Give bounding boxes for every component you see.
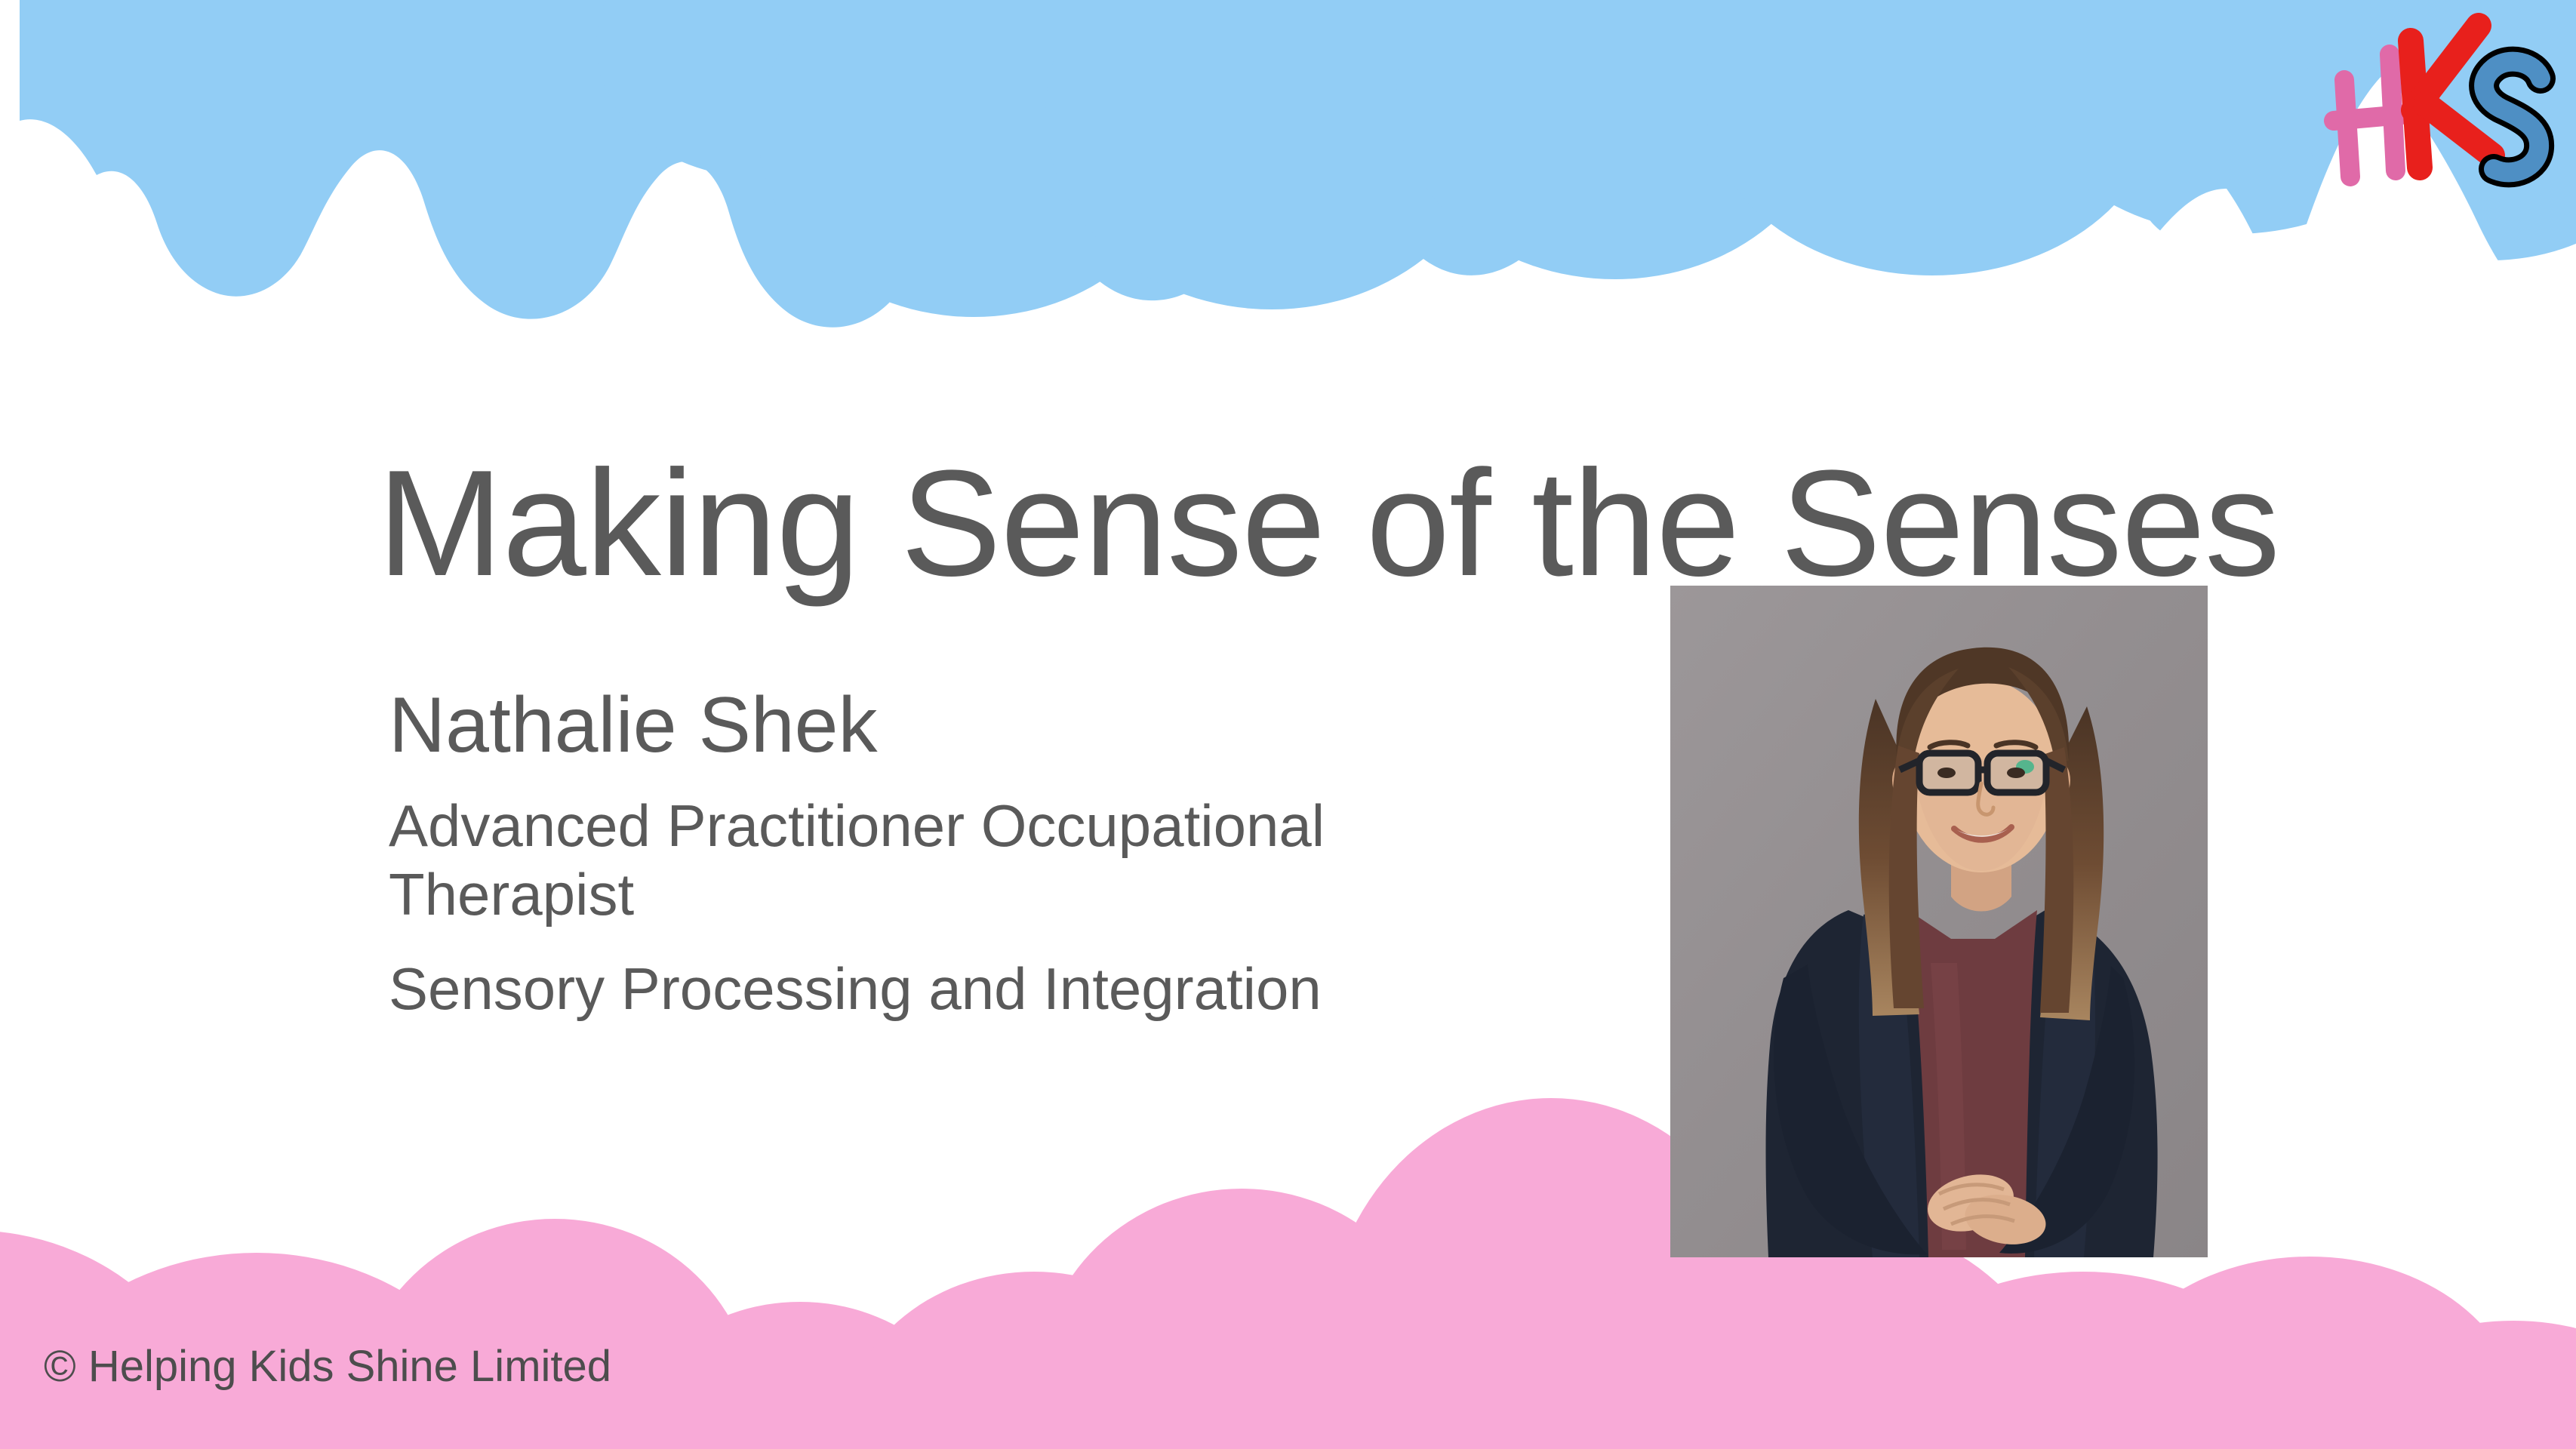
presenter-name: Nathalie Shek	[389, 679, 1521, 772]
logo-letter-s	[2484, 62, 2541, 173]
presenter-specialty: Sensory Processing and Integration	[389, 955, 1521, 1023]
presenter-details: Nathalie Shek Advanced Practitioner Occu…	[389, 679, 1521, 1023]
copyright-footer: © Helping Kids Shine Limited	[44, 1345, 611, 1389]
presenter-portrait-photo	[1670, 586, 2208, 1257]
slide-title: Making Sense of the Senses	[377, 445, 2264, 603]
hks-logo	[2301, 8, 2566, 189]
presenter-role-line-2: Therapist	[389, 860, 1521, 929]
logo-letter-h	[2334, 54, 2402, 177]
presentation-slide: Making Sense of the Senses Nathalie Shek…	[0, 0, 2576, 1449]
presenter-role-line-1: Advanced Practitioner Occupational	[389, 792, 1521, 860]
